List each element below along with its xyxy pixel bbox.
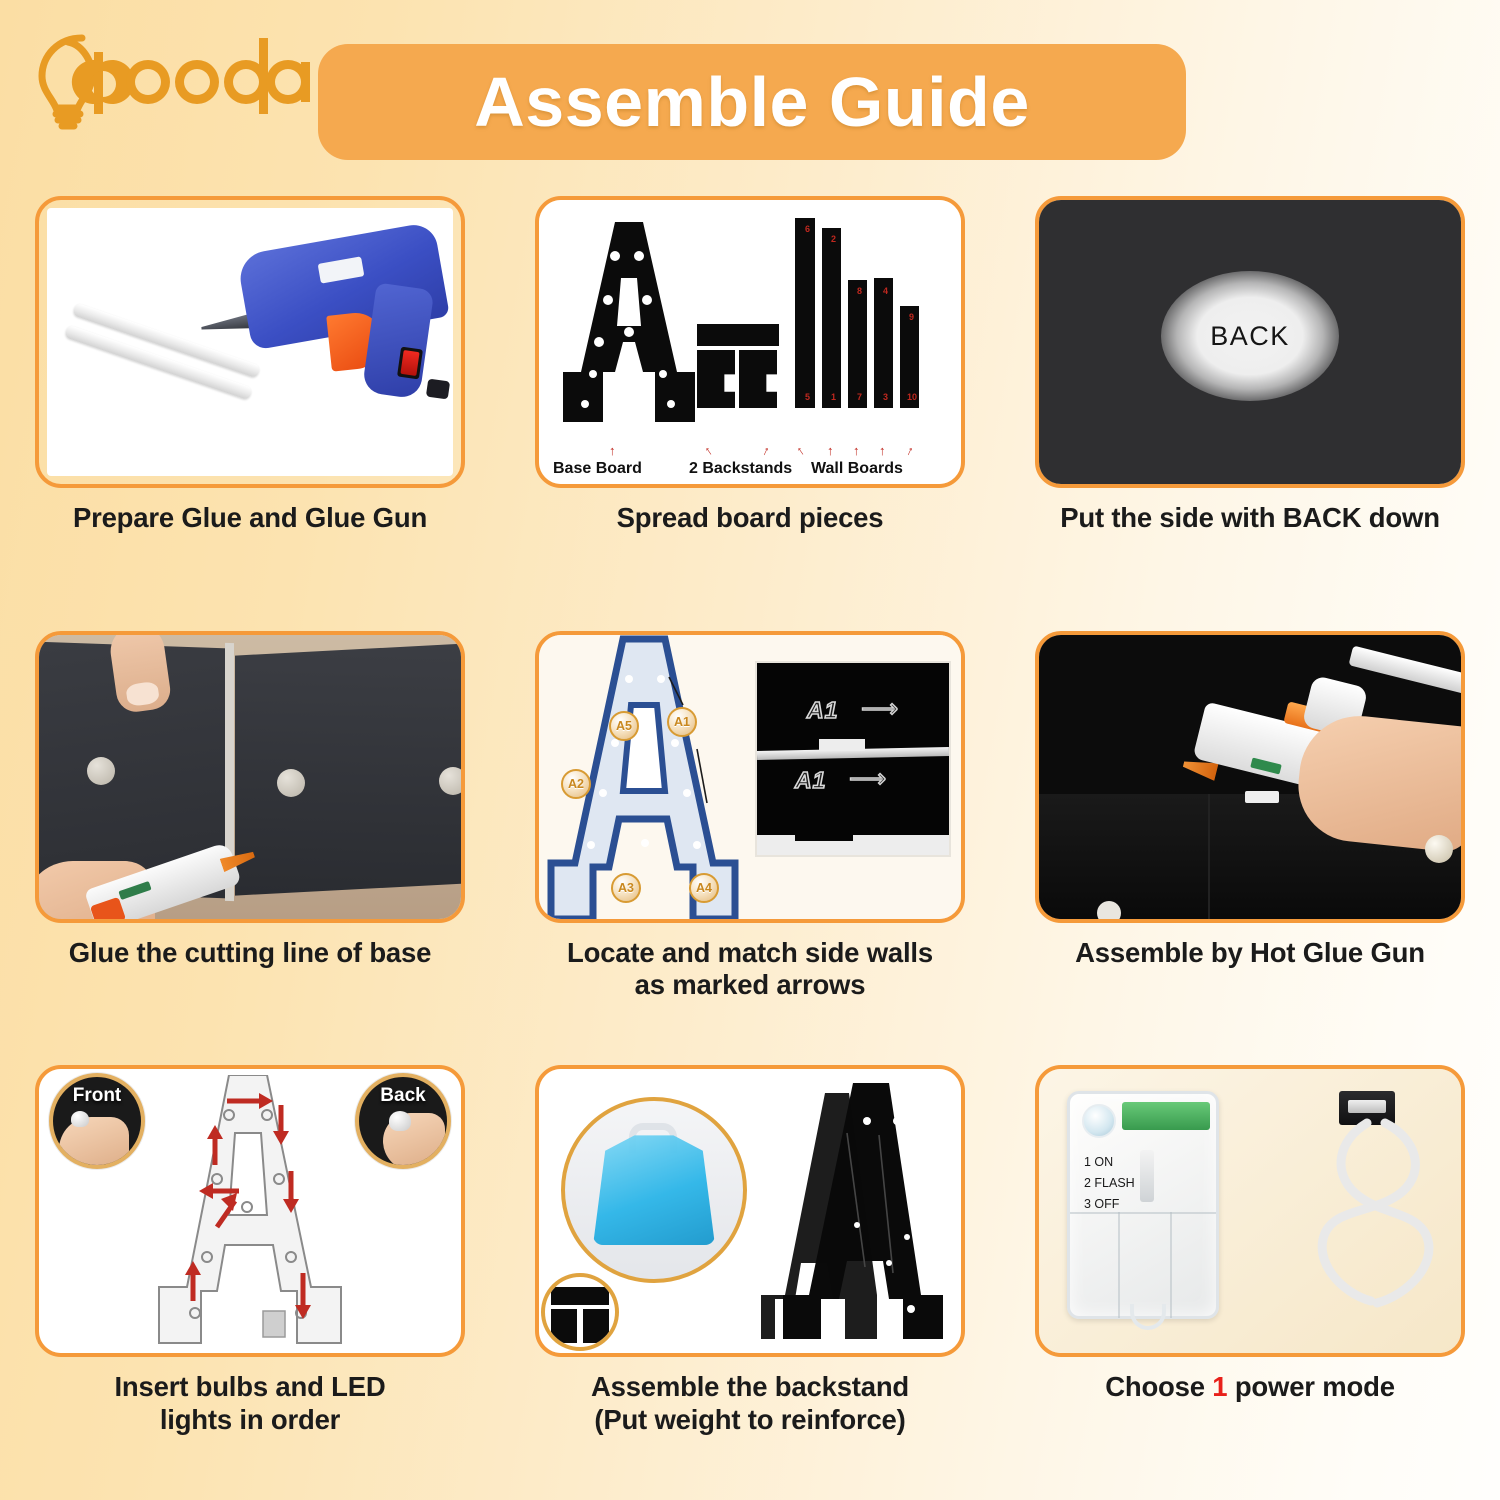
brand-wordmark [72, 38, 310, 114]
wall-board-number: 2 [831, 234, 836, 244]
steps-grid: Prepare Glue and Glue Gun [0, 196, 1500, 1500]
wall-label-a1-top: A1 [807, 697, 838, 724]
step-caption-8-line1: Assemble the backstand [525, 1371, 975, 1403]
backstand-piece-detail-circle [541, 1273, 619, 1351]
arrow-right-icon: ⟶ [849, 763, 886, 794]
case-divider [1070, 1212, 1216, 1214]
wall-marker-a4: A4 [689, 873, 719, 903]
battery-box-and-usb-cable-image: 1 ON 2 FLASH 3 OFF [1039, 1069, 1461, 1353]
bulb-icon [389, 1111, 411, 1131]
backstand-shape-icon [697, 324, 779, 346]
glue-gun-power-switch-icon [397, 347, 423, 380]
wall-matching-photo: A1 ⟶ A1 ⟶ [755, 661, 951, 857]
bulb-hole-icon [87, 757, 115, 785]
case-divider [1170, 1212, 1172, 1318]
backstand-shape-icon [739, 350, 777, 408]
board-tab-icon [819, 739, 865, 751]
back-glow-spot: BACK [1161, 271, 1339, 401]
step-card-6: Assemble by Hot Glue Gun [1000, 631, 1500, 1066]
wall-marker-a3: A3 [611, 873, 641, 903]
wall-board-pointer-icon: ↑ [793, 442, 807, 458]
backstand-piece-icon [551, 1309, 577, 1343]
step-caption-7: Insert bulbs and LED lights in order [25, 1371, 475, 1436]
power-mode-off: 3 OFF [1084, 1194, 1135, 1215]
step-card-1: Prepare Glue and Glue Gun [0, 196, 500, 631]
page-title-banner: Assemble Guide [318, 44, 1186, 160]
wall-board-number: 6 [805, 224, 810, 234]
gluing-base-photo-image [39, 635, 461, 919]
glue-gun-and-sticks-image [47, 208, 453, 476]
page-header: Assemble Guide [0, 0, 1500, 196]
wall-board-number: 5 [805, 392, 810, 402]
wall-board-number: 10 [907, 392, 917, 402]
board-seam [1208, 794, 1210, 919]
step-image-6 [1035, 631, 1465, 923]
step-caption-2: Spread board pieces [525, 502, 975, 534]
backstand-pointer-icon: ↑ [701, 442, 715, 458]
board-notch-icon [795, 829, 853, 841]
power-modes-list: 1 ON 2 FLASH 3 OFF [1084, 1152, 1135, 1214]
base-board-right-half [235, 642, 461, 895]
wall-board-shape-icon [874, 278, 893, 408]
wall-marker-a5: A5 [609, 711, 639, 741]
wall-board-shape-icon [822, 228, 841, 408]
insert-bulbs-diagram-image: Front Back [39, 1069, 461, 1353]
step-card-4: Glue the cutting line of base [0, 631, 500, 1066]
step-card-8: Assemble the backstand (Put weight to re… [500, 1065, 1000, 1500]
arrow-right-icon: ⟶ [861, 693, 898, 724]
wall-board-pointer-icon: ↑ [853, 443, 860, 458]
glue-residue-icon [1245, 791, 1279, 803]
step-caption-7-line2: lights in order [25, 1404, 475, 1436]
step-image-3: BACK [1035, 196, 1465, 488]
backstand-pointer-icon: ↑ [760, 442, 772, 458]
bulb-icon [71, 1111, 89, 1127]
hot-glue-gun-photo-image [1039, 635, 1461, 919]
step-caption-5-line2: as marked arrows [525, 969, 975, 1001]
bulb-hole-icon [439, 767, 461, 795]
wall-board-number: 8 [857, 286, 862, 296]
step-image-8 [535, 1065, 965, 1357]
step-caption-8-line2: (Put weight to reinforce) [525, 1404, 975, 1436]
backstand-assembly-photo-image [539, 1069, 961, 1353]
step-card-7: Front Back Insert bulbs and LED lights i… [0, 1065, 500, 1500]
battery-box-icon: 1 ON 2 FLASH 3 OFF [1067, 1091, 1219, 1319]
water-bag-icon [593, 1135, 715, 1245]
step-caption-9-highlight: 1 [1212, 1371, 1227, 1402]
backstand-shape-icon [697, 350, 735, 408]
wall-board-pointer-icon: ↑ [827, 443, 834, 458]
board-pieces-diagram-image: ↑ Base Board ↑ ↑ 2 Backstands 6 5 2 1 8 … [539, 200, 961, 484]
case-divider [1118, 1212, 1120, 1318]
step-caption-8: Assemble the backstand (Put weight to re… [525, 1371, 975, 1436]
back-detail-circle: Back [355, 1073, 451, 1169]
bulb-hole-icon [277, 769, 305, 797]
locate-side-walls-diagram-image: A5 A1 A2 A3 A4 A1 ⟶ A1 ⟶ [539, 635, 961, 919]
step-image-9: 1 ON 2 FLASH 3 OFF [1035, 1065, 1465, 1357]
circuit-board-icon [1122, 1102, 1210, 1130]
step-image-4 [35, 631, 465, 923]
step-caption-5-line1: Locate and match side walls [525, 937, 975, 969]
step-caption-3: Put the side with BACK down [1025, 502, 1475, 534]
wall-board-number: 4 [883, 286, 888, 296]
base-board-shape-icon [563, 222, 695, 422]
wall-board-shape-icon [848, 280, 867, 408]
switch-slot-icon [1140, 1150, 1154, 1202]
water-bag-detail-circle [561, 1097, 747, 1283]
step-image-7: Front Back [35, 1065, 465, 1357]
back-text-label: BACK [1210, 321, 1290, 352]
wall-board-pointer-icon: ↑ [879, 443, 886, 458]
lanyard-loop-icon [1130, 1304, 1166, 1330]
backstand-piece-icon [583, 1309, 609, 1343]
step-card-5: A5 A1 A2 A3 A4 A1 ⟶ A1 ⟶ Locate and matc… [500, 631, 1000, 1066]
letter-a-bulb-order-icon [155, 1075, 345, 1345]
step-image-1 [35, 196, 465, 488]
wall-marker-a2: A2 [561, 769, 591, 799]
step-card-2: ↑ Base Board ↑ ↑ 2 Backstands 6 5 2 1 8 … [500, 196, 1000, 631]
front-detail-circle: Front [49, 1073, 145, 1169]
glue-gun-cable-cap-icon [426, 379, 450, 400]
wall-board-number: 7 [857, 392, 862, 402]
brand-logo [20, 16, 310, 136]
step-caption-9-suffix: power mode [1227, 1371, 1394, 1402]
step-caption-6: Assemble by Hot Glue Gun [1025, 937, 1475, 969]
step-caption-4: Glue the cutting line of base [25, 937, 475, 969]
backstand-piece-icon [551, 1287, 609, 1305]
step-caption-7-line1: Insert bulbs and LED [25, 1371, 475, 1403]
step-caption-5: Locate and match side walls as marked ar… [525, 937, 975, 1002]
back-side-photo-image: BACK [1039, 200, 1461, 484]
hand-icon [59, 1117, 129, 1169]
power-mode-on: 1 ON [1084, 1152, 1135, 1173]
wall-board-number: 1 [831, 392, 836, 402]
glue-stick-icon [1349, 645, 1461, 696]
assembled-backstand-icon [761, 1077, 947, 1349]
wall-board-number: 9 [909, 312, 914, 322]
step-caption-1: Prepare Glue and Glue Gun [25, 502, 475, 534]
step-image-2: ↑ Base Board ↑ ↑ 2 Backstands 6 5 2 1 8 … [535, 196, 965, 488]
usb-cable-icon [1267, 1087, 1453, 1331]
front-label: Front [53, 1085, 141, 1107]
backstands-label: 2 Backstands [689, 460, 792, 478]
step-card-9: 1 ON 2 FLASH 3 OFF [1000, 1065, 1500, 1500]
board-edge-icon [757, 835, 949, 855]
wall-board-number: 3 [883, 392, 888, 402]
wall-board-shape-icon [795, 218, 815, 408]
led-indicator-icon [1082, 1104, 1116, 1138]
bulb-hole-icon [1425, 835, 1453, 863]
base-board-label: Base Board [553, 460, 642, 478]
power-mode-flash: 2 FLASH [1084, 1173, 1135, 1194]
wall-board-pointer-icon: ↑ [904, 442, 916, 458]
wall-marker-a1: A1 [667, 707, 697, 737]
step-caption-9-prefix: Choose [1105, 1371, 1212, 1402]
wall-label-a1-bottom: A1 [795, 767, 826, 794]
step-image-5: A5 A1 A2 A3 A4 A1 ⟶ A1 ⟶ [535, 631, 965, 923]
wall-boards-label: Wall Boards [811, 460, 903, 478]
base-board-pointer-icon: ↑ [609, 443, 616, 458]
step-caption-9: Choose 1 power mode [1025, 1371, 1475, 1403]
back-label: Back [359, 1085, 447, 1107]
page-title: Assemble Guide [474, 62, 1030, 142]
step-card-3: BACK Put the side with BACK down [1000, 196, 1500, 631]
